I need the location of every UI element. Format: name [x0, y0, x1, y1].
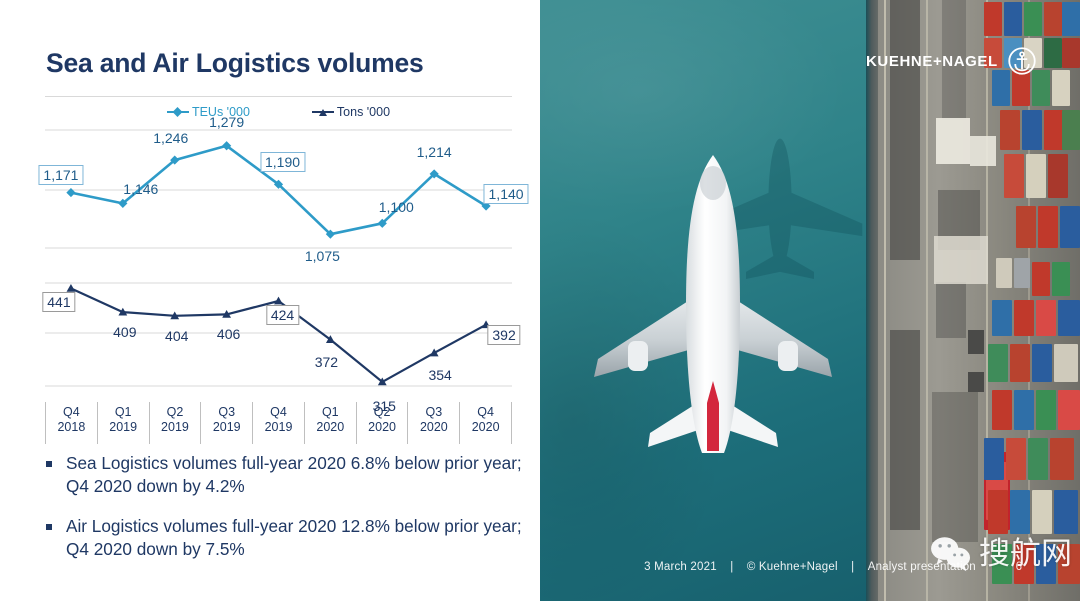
x-axis-tick-year: 2020 [368, 420, 396, 435]
volumes-chart: TEUs '000 Tons '000 1,1711,1461,2461,279… [45, 96, 512, 446]
data-label: 1,279 [209, 114, 244, 130]
diamond-marker-icon [173, 107, 183, 117]
watermark-text: 搜航网 [979, 539, 1072, 570]
chart-top-border [45, 96, 512, 97]
data-label: 1,100 [379, 199, 414, 215]
x-axis-tick-year: 2020 [316, 420, 344, 435]
data-label: 406 [217, 326, 240, 342]
footer-sep-1: | [730, 561, 733, 573]
bullet-square-icon [46, 524, 52, 530]
data-label: 1,190 [260, 152, 305, 172]
x-axis-tick-quarter: Q4 [477, 405, 494, 420]
page-title: Sea and Air Logistics volumes [46, 48, 424, 79]
data-label: 1,171 [38, 165, 83, 185]
list-item: Sea Logistics volumes full-year 2020 6.8… [46, 452, 526, 498]
watermark: 搜航网 [929, 535, 1072, 573]
x-axis-tick-year: 2020 [420, 420, 448, 435]
legend-line-tons-icon [312, 111, 334, 113]
x-axis-tick-quarter: Q1 [322, 405, 339, 420]
x-axis-tick: Q32020 [407, 402, 459, 444]
data-label: 354 [428, 367, 451, 383]
footer-sep-2: | [851, 561, 854, 573]
slide: Sea and Air Logistics volumes TEUs '000 … [0, 0, 1080, 601]
bullet-text-air: Air Logistics volumes full-year 2020 12.… [66, 515, 526, 561]
bullet-square-icon [46, 461, 52, 467]
airplane-icon [588, 145, 838, 475]
footer-date: 3 March 2021 [644, 561, 717, 573]
legend-line-teus-icon [167, 111, 189, 113]
data-label: 404 [165, 328, 188, 344]
data-label: 424 [266, 305, 299, 325]
data-label: 1,140 [484, 184, 529, 204]
x-axis-tick-quarter: Q2 [374, 405, 391, 420]
footer-copyright: © Kuehne+Nagel [747, 561, 838, 573]
x-axis-tick: Q22020 [356, 402, 408, 444]
data-label: 1,146 [123, 181, 158, 197]
x-axis-tick-quarter: Q3 [426, 405, 443, 420]
legend-item-tons: Tons '000 [312, 105, 390, 119]
bullet-text-sea: Sea Logistics volumes full-year 2020 6.8… [66, 452, 526, 498]
data-label: 392 [487, 325, 520, 345]
bullet-list: Sea Logistics volumes full-year 2020 6.8… [46, 452, 526, 578]
x-axis-tick-year: 2018 [57, 420, 85, 435]
x-axis-tick: Q12020 [304, 402, 356, 444]
x-axis-tick-quarter: Q1 [115, 405, 132, 420]
triangle-marker-icon [319, 109, 327, 116]
x-axis-tick-year: 2019 [161, 420, 189, 435]
hero-photo: KUEHNE+NAGEL 3 March 2021 | © Kuehne+Nag… [540, 0, 1080, 601]
data-label: 441 [42, 292, 75, 312]
brand-logo-text: KUEHNE+NAGEL [866, 53, 998, 70]
chart-x-axis: Q42018Q12019Q22019Q32019Q42019Q12020Q220… [45, 402, 512, 444]
x-axis-tick-quarter: Q4 [63, 405, 80, 420]
brand-logo: KUEHNE+NAGEL [866, 46, 1037, 76]
x-axis-tick-year: 2019 [213, 420, 241, 435]
photo-containers [962, 0, 1080, 601]
data-label: 409 [113, 324, 136, 340]
data-label: 372 [315, 354, 338, 370]
anchor-icon [1007, 46, 1037, 76]
x-axis-tick-quarter: Q4 [270, 405, 287, 420]
x-axis-tick: Q22019 [149, 402, 201, 444]
data-label: 1,214 [417, 144, 452, 160]
x-axis-tick: Q42018 [45, 402, 97, 444]
x-axis-tick: Q12019 [97, 402, 149, 444]
x-axis-tick-year: 2020 [472, 420, 500, 435]
x-axis-tick-year: 2019 [265, 420, 293, 435]
data-label: 1,246 [153, 130, 188, 146]
legend-label-tons: Tons '000 [337, 105, 390, 119]
x-axis-tick-quarter: Q3 [218, 405, 235, 420]
x-axis-tick-quarter: Q2 [167, 405, 184, 420]
data-label: 1,075 [305, 248, 340, 264]
content-panel: Sea and Air Logistics volumes TEUs '000 … [0, 0, 540, 601]
wechat-icon [929, 535, 973, 573]
x-axis-tick: Q42019 [252, 402, 304, 444]
x-axis-tick: Q32019 [200, 402, 252, 444]
list-item: Air Logistics volumes full-year 2020 12.… [46, 515, 526, 561]
x-axis-tick: Q42020 [459, 402, 512, 444]
x-axis-tick-year: 2019 [109, 420, 137, 435]
